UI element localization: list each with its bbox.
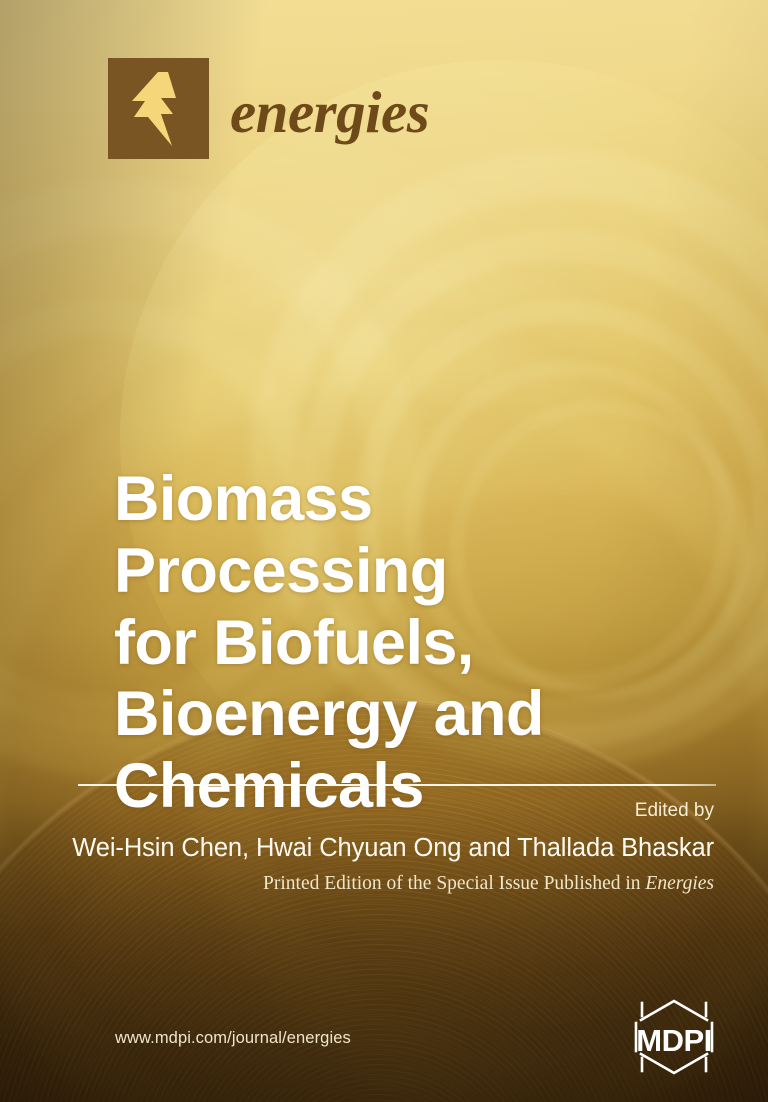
journal-url[interactable]: www.mdpi.com/journal/energies (115, 1029, 351, 1048)
printed-edition-prefix: Printed Edition of the Special Issue Pub… (263, 873, 645, 894)
editor-block: Edited by Wei-Hsin Chen, Hwai Chyuan Ong… (52, 800, 714, 896)
title-line-1: Biomass Processing (114, 464, 714, 608)
title-line-2: for Biofuels, (114, 608, 714, 680)
lightning-bolt-icon (128, 70, 190, 148)
printed-edition-note: Printed Edition of the Special Issue Pub… (52, 872, 714, 895)
mdpi-hexagon-logo: MDPI (622, 996, 726, 1078)
journal-masthead: energies (108, 58, 429, 159)
editor-names: Wei-Hsin Chen, Hwai Chyuan Ong and Thall… (52, 833, 714, 864)
edited-by-label: Edited by (52, 800, 714, 823)
book-cover: energies Biomass Processing for Biofuels… (0, 0, 768, 1102)
printed-edition-journal: Energies (645, 873, 714, 894)
mdpi-logo-text: MDPI (636, 1023, 712, 1058)
title-divider-rule (78, 784, 716, 786)
page-title: Biomass Processing for Biofuels, Bioener… (114, 464, 714, 823)
energies-logo-square (108, 58, 209, 159)
title-line-3: Bioenergy and (114, 679, 714, 751)
journal-wordmark: energies (230, 83, 429, 142)
